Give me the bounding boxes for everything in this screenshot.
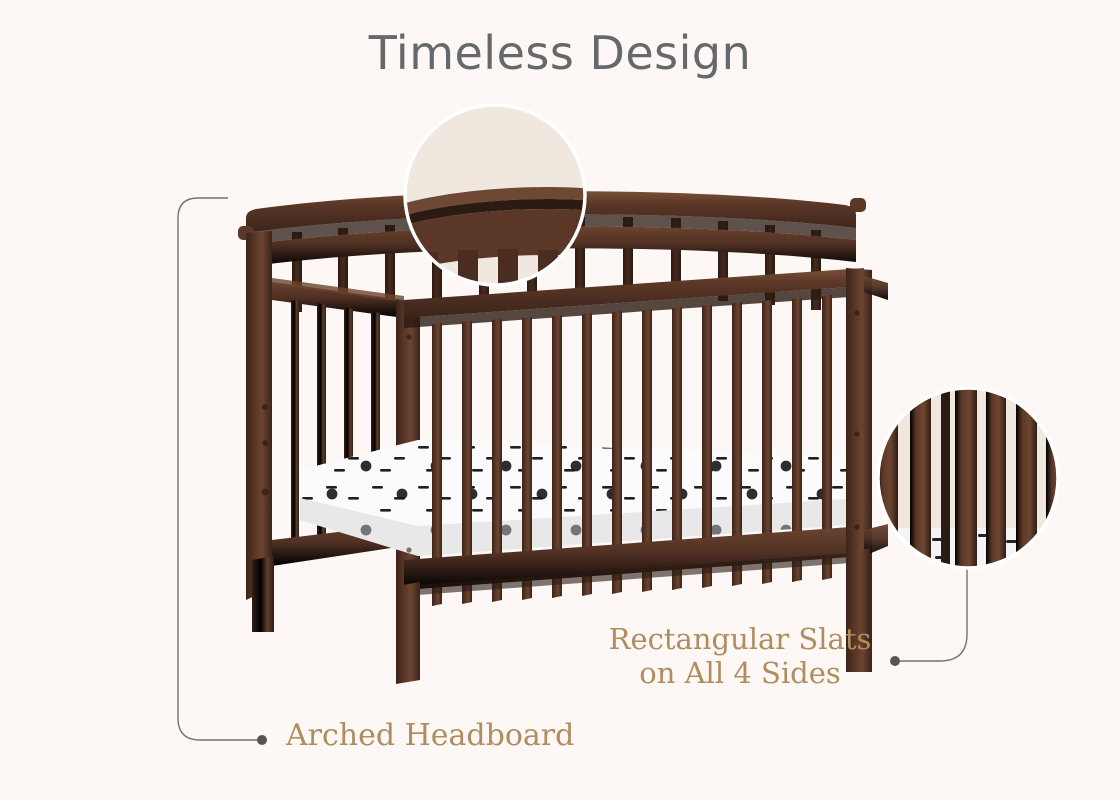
infographic-page: Timeless Design Arched Headboard Rectang…	[0, 0, 1120, 800]
left-rear-leg	[252, 556, 274, 632]
callout-label-arched-headboard: Arched Headboard	[286, 718, 574, 753]
callout-label-rectangular-slats: Rectangular Slats on All 4 Sides	[592, 622, 888, 690]
page-title: Timeless Design	[0, 26, 1120, 81]
left-front-leg	[396, 582, 420, 684]
arched-headboard-connector-dot	[257, 735, 267, 745]
left-rear-post	[246, 231, 272, 600]
rectangular-slats-connector-dot	[890, 656, 900, 666]
crib-illustration	[0, 0, 1120, 800]
